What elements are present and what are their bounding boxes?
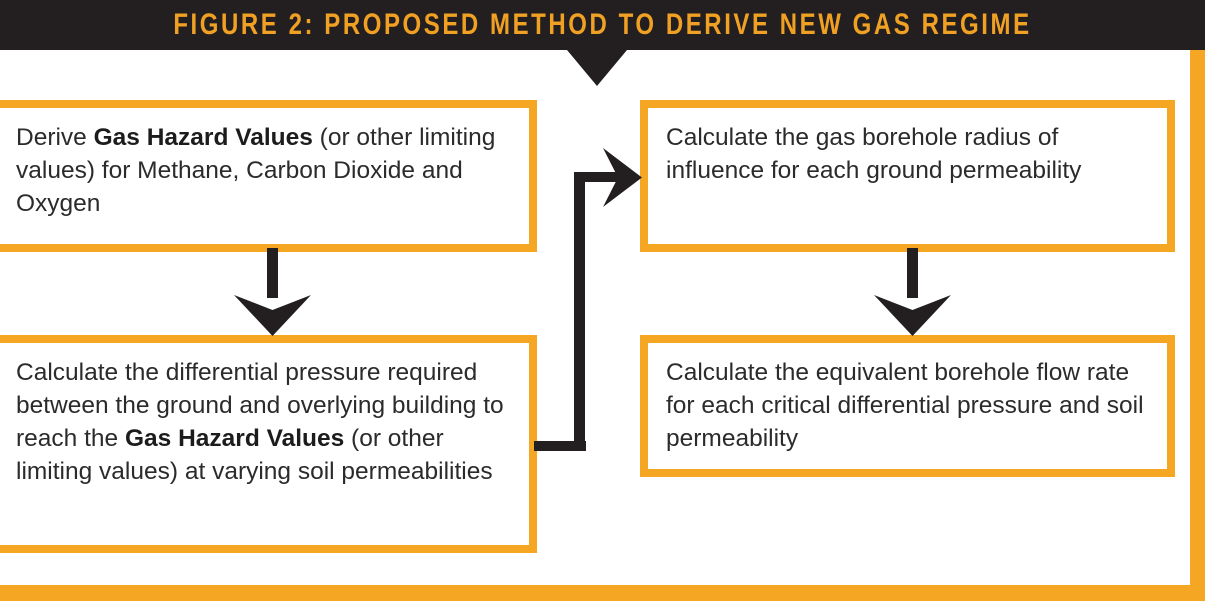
- process-box-text: Calculate the equivalent borehole flow r…: [648, 343, 1167, 455]
- right-accent-rail: [1190, 50, 1205, 601]
- arrow-down-icon-box3-to-box4: [868, 248, 968, 338]
- process-box-derive-gas-hazard-values: Derive Gas Hazard Values (or other limit…: [0, 100, 537, 252]
- process-box-text: Calculate the differential pressure requ…: [0, 343, 529, 488]
- process-box-calculate-borehole-radius-of-influence: Calculate the gas borehole radius of inf…: [640, 100, 1175, 252]
- bottom-accent-rail: [0, 585, 1205, 601]
- figure-title: FIGURE 2: PROPOSED METHOD TO DERIVE NEW …: [121, 0, 1085, 50]
- header-notch-triangle-icon: [567, 50, 627, 86]
- arrow-down-icon-box1-to-box2: [228, 248, 328, 338]
- figure-header-bar: FIGURE 2: PROPOSED METHOD TO DERIVE NEW …: [0, 0, 1205, 50]
- arrow-elbow-icon-box2-to-box3: [525, 160, 665, 470]
- figure-container: FIGURE 2: PROPOSED METHOD TO DERIVE NEW …: [0, 0, 1205, 601]
- process-box-calculate-differential-pressure: Calculate the differential pressure requ…: [0, 335, 537, 553]
- process-box-text: Calculate the gas borehole radius of inf…: [648, 108, 1167, 187]
- process-box-calculate-equivalent-borehole-flow-rate: Calculate the equivalent borehole flow r…: [640, 335, 1175, 477]
- process-box-text: Derive Gas Hazard Values (or other limit…: [0, 108, 529, 220]
